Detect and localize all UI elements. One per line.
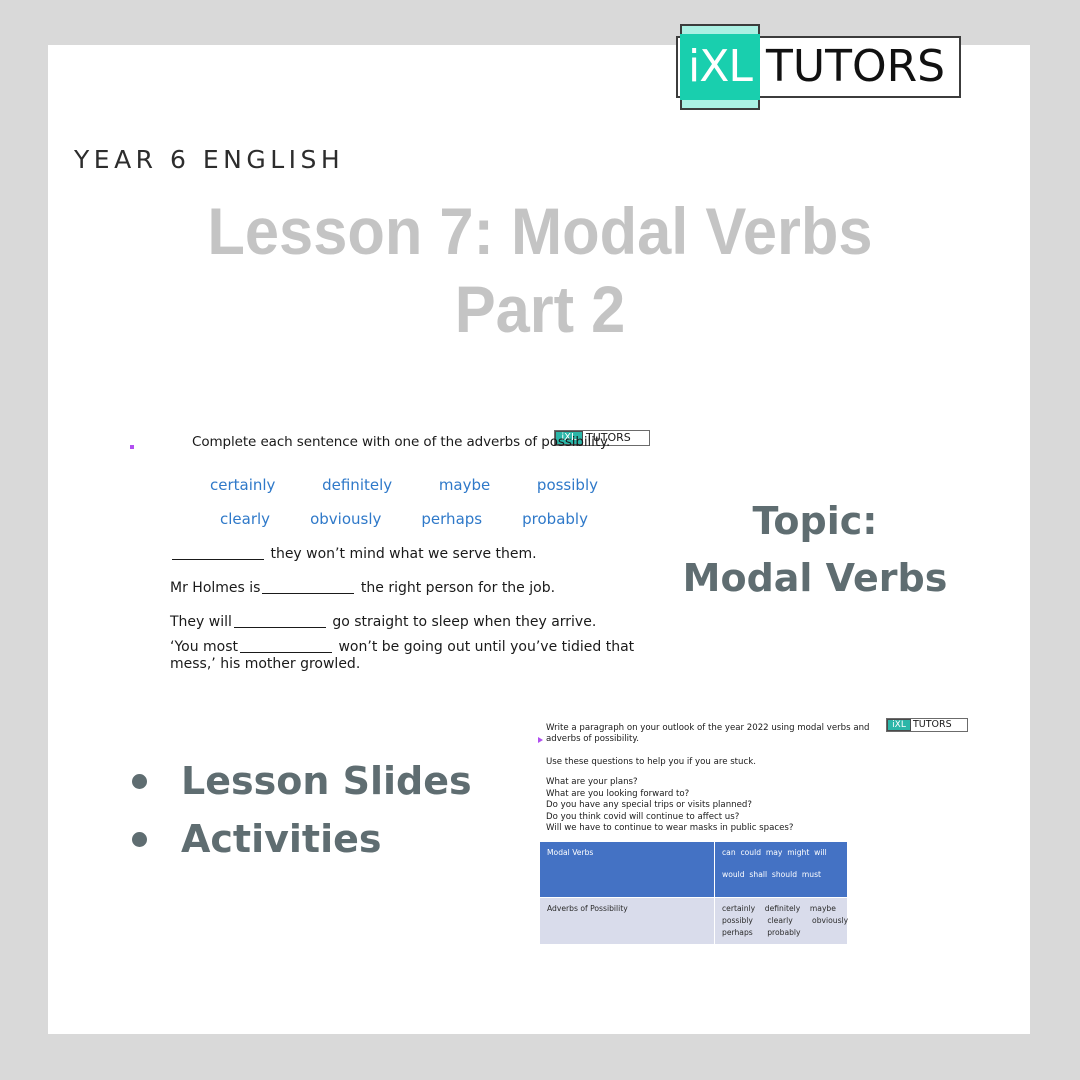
logo-ixl-text: iXL bbox=[680, 34, 760, 100]
reference-table: Modal Verbs can could may might will wou… bbox=[540, 842, 848, 944]
page-title: Lesson 7: Modal Verbs Part 2 bbox=[168, 192, 912, 348]
table-word-line: would shall should must bbox=[722, 869, 840, 881]
ixl-tutors-logo: iXL TUTORS bbox=[662, 22, 962, 112]
sentence-after: won’t be going out until you’ve tidied t… bbox=[170, 639, 634, 672]
table-word-line: possibly clearly obviously bbox=[722, 915, 840, 927]
topic-value: Modal Verbs bbox=[650, 550, 980, 607]
word-bank-row: clearly obviously perhaps probably bbox=[202, 502, 602, 536]
sentence-item: They will go straight to sleep when they… bbox=[170, 605, 670, 639]
question-item: Will we have to continue to wear masks i… bbox=[546, 823, 793, 835]
sentence-before: Mr Holmes is bbox=[170, 580, 260, 596]
worksheet-task: Write a paragraph on your outlook of the… bbox=[546, 723, 896, 745]
includes-list: Lesson Slides Activities bbox=[132, 752, 552, 868]
table-cell-label: Modal Verbs bbox=[540, 842, 715, 898]
worksheet-preview-paragraph: iXL TUTORS Write a paragraph on your out… bbox=[534, 712, 974, 932]
word-bank-word: definitely bbox=[322, 476, 392, 494]
answer-blank bbox=[172, 559, 264, 560]
question-item: What are your plans? bbox=[546, 777, 793, 789]
word-bank-word: clearly bbox=[220, 510, 270, 528]
worksheet-question-list: What are your plans? What are you lookin… bbox=[546, 777, 793, 835]
word-bank-word: certainly bbox=[210, 476, 275, 494]
table-cell-words: certainly definitely maybe possibly clea… bbox=[715, 898, 848, 945]
word-bank-row: certainly definitely maybe possibly bbox=[202, 468, 602, 502]
word-bank-word: perhaps bbox=[421, 510, 482, 528]
table-word-line: can could may might will bbox=[722, 847, 840, 859]
question-item: What are you looking forward to? bbox=[546, 789, 793, 801]
bullet-dot-icon bbox=[132, 774, 147, 789]
answer-blank bbox=[240, 652, 332, 653]
logo-tutors-text: TUTORS bbox=[766, 36, 945, 98]
worksheet-helper-text: Use these questions to help you if you a… bbox=[546, 757, 756, 767]
table-word-line: perhaps probably bbox=[722, 927, 840, 939]
sentence-item: they won’t mind what we serve them. bbox=[170, 537, 670, 571]
sentence-after: the right person for the job. bbox=[361, 580, 555, 596]
sentence-before: ‘You most bbox=[170, 639, 238, 655]
sentence-item: ‘You most won’t be going out until you’v… bbox=[170, 639, 670, 673]
table-row: Adverbs of Possibility certainly definit… bbox=[540, 898, 848, 945]
eyebrow-subject: YEAR 6 ENGLISH bbox=[74, 145, 344, 174]
worksheet-prompt: Complete each sentence with one of the a… bbox=[192, 434, 610, 450]
list-item: Activities bbox=[132, 810, 552, 868]
word-bank-word: maybe bbox=[439, 476, 490, 494]
word-bank: certainly definitely maybe possibly clea… bbox=[202, 468, 602, 536]
slide-page: iXL TUTORS YEAR 6 ENGLISH Lesson 7: Moda… bbox=[0, 0, 1080, 1080]
table-word-line: certainly definitely maybe bbox=[722, 903, 840, 915]
question-item: Do you think covid will continue to affe… bbox=[546, 812, 793, 824]
sentence-after: they won’t mind what we serve them. bbox=[270, 546, 536, 562]
list-item-label: Activities bbox=[181, 817, 382, 861]
slide-marker-icon bbox=[538, 737, 543, 743]
bullet-dot-icon bbox=[132, 832, 147, 847]
topic-label: Topic: bbox=[650, 493, 980, 550]
fill-in-sentences: they won’t mind what we serve them. Mr H… bbox=[170, 537, 670, 673]
topic-block: Topic: Modal Verbs bbox=[650, 493, 980, 607]
sentence-after: go straight to sleep when they arrive. bbox=[332, 614, 596, 630]
worksheet-preview-adverbs: iXL TUTORS Complete each sentence with o… bbox=[124, 420, 664, 685]
answer-blank bbox=[262, 593, 354, 594]
table-row: Modal Verbs can could may might will wou… bbox=[540, 842, 848, 898]
word-bank-word: possibly bbox=[537, 476, 598, 494]
mini-logo-tutors-text: TUTORS bbox=[913, 718, 952, 732]
question-item: Do you have any special trips or visits … bbox=[546, 800, 793, 812]
word-bank-word: probably bbox=[522, 510, 588, 528]
list-item: Lesson Slides bbox=[132, 752, 552, 810]
table-cell-label: Adverbs of Possibility bbox=[540, 898, 715, 945]
slide-marker-icon bbox=[130, 445, 134, 449]
sentence-item: Mr Holmes is the right person for the jo… bbox=[170, 571, 670, 605]
word-bank-word: obviously bbox=[310, 510, 381, 528]
answer-blank bbox=[234, 627, 326, 628]
sentence-before: They will bbox=[170, 614, 232, 630]
list-item-label: Lesson Slides bbox=[181, 759, 472, 803]
table-cell-words: can could may might will would shall sho… bbox=[715, 842, 848, 898]
